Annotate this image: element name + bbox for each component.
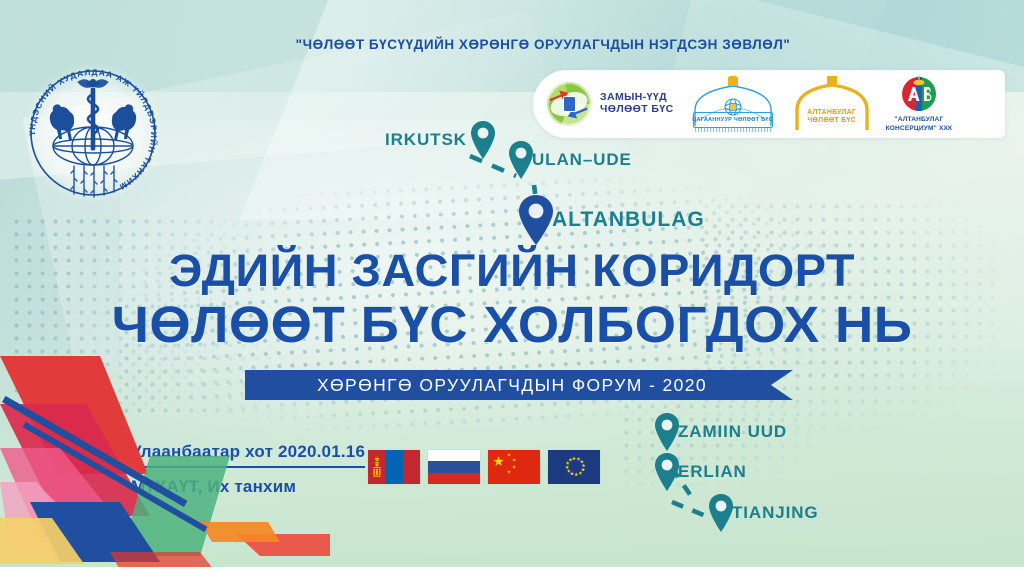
soyombo-icon	[372, 456, 381, 478]
map-pin-label-altanbulag: ALTANBULAG	[552, 208, 705, 232]
swirl-globe-arrows-icon	[547, 82, 591, 126]
map-pin-label-ulan-ude: ULAN–UDE	[532, 150, 632, 170]
location-pin-icon	[653, 452, 681, 492]
logo-altanbulag-free-zone: АЛТАНБУЛАГ ЧӨЛӨӨТ БҮС	[776, 70, 874, 138]
map-pin-zamiin-uud[interactable]: ZAMIIN UUD	[653, 412, 787, 452]
logo-altanbulag-consortium: "АЛТАНБУЛАГ КОНСЕРЦИУМ" ХХК	[886, 74, 953, 133]
logo-consortium-line2: КОНСЕРЦИУМ" ХХК	[886, 125, 953, 134]
location-pin-icon	[517, 194, 555, 246]
forum-ribbon-text: ХӨРӨНГӨ ОРУУЛАГЧДЫН ФОРУМ - 2020	[317, 375, 707, 396]
map-pin-tianjing[interactable]: TIANJING	[707, 493, 819, 533]
bottom-white-strip	[0, 567, 1024, 576]
map-pin-label-irkutsk: IRKUTSK	[385, 130, 467, 150]
header-strap: "ЧӨЛӨӨТ БҮСҮҮДИЙН ХӨРӨНГӨ ОРУУЛАГЧДЫН НЭ…	[0, 36, 1024, 54]
logo-altanbulag-line2: ЧӨЛӨӨТ БҮС	[790, 117, 874, 126]
location-pin-icon	[653, 412, 681, 452]
flag-row	[368, 450, 600, 484]
logo-zamyn-uud-line2: ЧӨЛӨӨТ БҮС	[600, 104, 674, 116]
venue-hall: МҮХАҮТ, Их танхим	[131, 477, 365, 497]
map-pin-ulan-ude[interactable]: ULAN–UDE	[507, 140, 632, 180]
flag-russia	[428, 450, 480, 484]
location-pin-icon	[469, 120, 497, 160]
blue-arch-globe-icon: ЦАГААННУУР ЧӨЛӨӨТ БҮС	[690, 76, 776, 132]
header-strap-text: "ЧӨЛӨӨТ БҮСҮҮДИЙН ХӨРӨНГӨ ОРУУЛАГЧДЫН НЭ…	[296, 37, 791, 52]
sponsor-logo-panel: ЗАМЫН-ҮҮД ЧӨЛӨӨТ БҮС	[533, 70, 1005, 138]
flag-mongolia	[368, 450, 420, 484]
map-pin-label-erlian: ERLIAN	[678, 462, 747, 482]
logo-tsagaannuur-free-zone: ЦАГААННУУР ЧӨЛӨӨТ БҮС	[674, 70, 776, 138]
map-pin-label-tianjing: TIANJING	[732, 503, 819, 523]
map-pin-label-zamiin-uud: ZAMIIN UUD	[678, 422, 787, 442]
gold-arch-icon: АЛТАНБУЛАГ ЧӨЛӨӨТ БҮС	[790, 76, 874, 132]
map-pin-irkutsk[interactable]: IRKUTSK	[385, 120, 497, 160]
forum-ribbon-banner: ХӨРӨНГӨ ОРУУЛАГЧДЫН ФОРУМ - 2020	[245, 370, 793, 400]
logo-tsagaannuur-plate-text: ЦАГААННУУР ЧӨЛӨӨТ БҮС	[692, 117, 773, 123]
location-pin-icon	[707, 493, 735, 533]
mncci-emblem-icon: МОНГОЛЫН ҮНДЭСНИЙ ХУДАЛДАА АЖ ҮЙЛДВЭРИЙН…	[18, 58, 168, 208]
flag-china	[488, 450, 540, 484]
map-pin-erlian[interactable]: ERLIAN	[653, 452, 747, 492]
flag-eu	[548, 450, 600, 484]
location-pin-icon	[507, 140, 535, 180]
title-line-1: ЭДИЙН ЗАСГИЙН КОРИДОРТ	[0, 248, 1024, 293]
venue-city-date: Улаанбаатар хот 2020.01.16	[131, 442, 365, 468]
poster-canvas: "ЧӨЛӨӨТ БҮСҮҮДИЙН ХӨРӨНГӨ ОРУУЛАГЧДЫН НЭ…	[0, 0, 1024, 576]
mncci-emblem: МОНГОЛЫН ҮНДЭСНИЙ ХУДАЛДАА АЖ ҮЙЛДВЭРИЙН…	[18, 58, 168, 208]
map-pin-altanbulag[interactable]: ALTANBULAG	[517, 194, 705, 246]
venue-info: Улаанбаатар хот 2020.01.16 МҮХАҮТ, Их та…	[131, 442, 365, 497]
poster-title: ЭДИЙН ЗАСГИЙН КОРИДОРТ ЧӨЛӨӨТ БҮС ХОЛБОГ…	[0, 248, 1024, 350]
logo-altanbulag-line1: АЛТАНБУЛАГ	[790, 109, 874, 118]
logo-zamyn-uud-free-zone: ЗАМЫН-ҮҮД ЧӨЛӨӨТ БҮС	[533, 70, 674, 138]
logo-consortium-line1: "АЛТАНБУЛАГ	[886, 116, 953, 125]
abc-roundel-icon	[899, 74, 939, 114]
title-line-2: ЧӨЛӨӨТ БҮС ХОЛБОГДОХ НЬ	[0, 299, 1024, 350]
